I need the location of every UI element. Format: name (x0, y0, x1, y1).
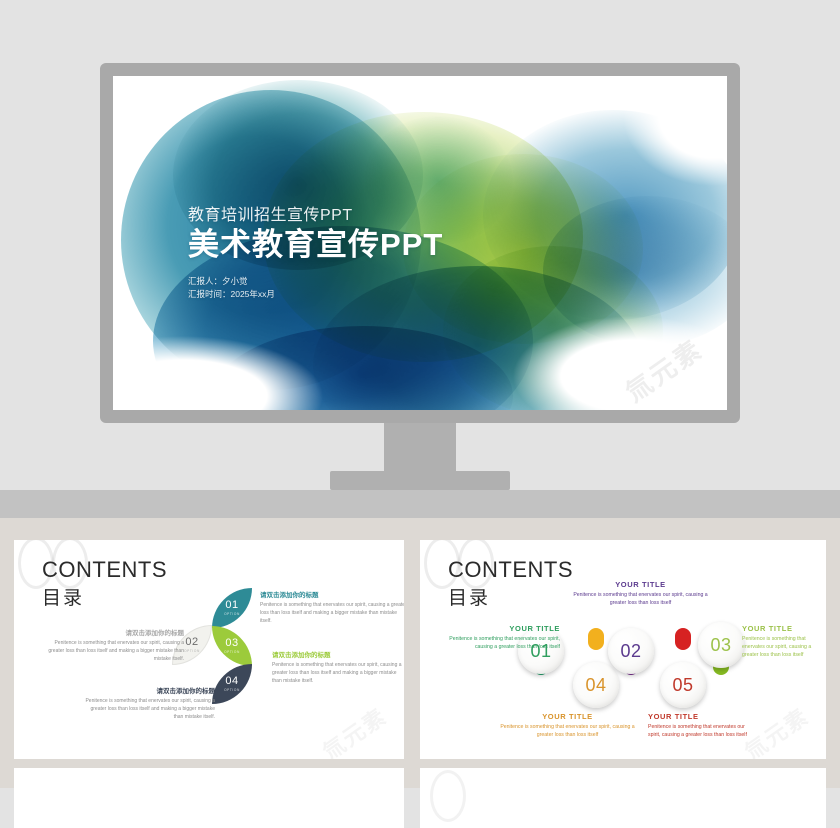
petal-02-title: 请双击添加你的标题 (44, 630, 184, 638)
hero-title: 美术教育宣传PPT (188, 227, 658, 263)
petal-04-option: OPTION (224, 688, 240, 692)
circle-01-title: YOUR TITLE (430, 624, 560, 633)
slide-thumbnail-contents-petal[interactable]: CONTENTS 目录 01 OPTION 02 OPTION 03 OPTIO… (14, 540, 404, 759)
petal-01-option: OPTION (224, 612, 240, 616)
petal-01-body: Penitence is something that enervates ou… (260, 602, 404, 625)
circle-04-text: YOUR TITLE Penitence is something that e… (500, 712, 635, 739)
desk-surface (0, 490, 840, 518)
bulb-04 (588, 628, 604, 650)
monitor-stand-base (330, 471, 510, 490)
circle-05-body: Penitence is something that enervates ou… (648, 723, 758, 739)
circle-03[interactable]: 03 (698, 622, 744, 668)
petal-03-body: Penitence is something that enervates ou… (272, 662, 404, 685)
petal-02-text: 请双击添加你的标题 Penitence is something that en… (44, 630, 184, 664)
petal-03-number: 03 (225, 638, 238, 649)
background-number (430, 770, 464, 828)
petal-01[interactable]: 01 OPTION (212, 588, 252, 628)
monitor-stand-neck (384, 423, 456, 471)
petal-02-option: OPTION (184, 649, 200, 653)
watermark-text: 氚元素 (315, 699, 392, 759)
bulb-05 (675, 628, 691, 650)
monitor-preview-area: 教育培训招生宣传PPT 美术教育宣传PPT 汇报人：夕小觉 汇报时间：2025年… (0, 0, 840, 518)
slide-thumbnail-contents-circles[interactable]: CONTENTS 目录 01 04 02 05 03 YOUR TITLE Pe… (420, 540, 826, 759)
slide-thumbnail-grid: CONTENTS 目录 01 OPTION 02 OPTION 03 OPTIO… (0, 518, 840, 788)
petal-03-title: 请双击添加你的标题 (272, 652, 404, 660)
hero-subtitle: 教育培训招生宣传PPT (188, 206, 658, 225)
slide-heading: CONTENTS 目录 (42, 558, 167, 610)
petal-04-body: Penitence is something that enervates ou… (80, 698, 215, 721)
petal-01-title: 请双击添加你的标题 (260, 592, 404, 600)
petal-diagram: 01 OPTION 02 OPTION 03 OPTION 04 OPTION (172, 588, 252, 748)
petal-04-number: 04 (225, 676, 238, 687)
circle-03-text: YOUR TITLE Penitence is something that e… (742, 624, 820, 659)
slide-preview-screen[interactable]: 教育培训招生宣传PPT 美术教育宣传PPT 汇报人：夕小觉 汇报时间：2025年… (113, 76, 727, 410)
circle-04-body: Penitence is something that enervates ou… (500, 723, 635, 739)
circle-03-body: Penitence is something that enervates ou… (742, 635, 820, 659)
petal-04-text: 请双击添加你的标题 Penitence is something that en… (80, 688, 215, 722)
circle-01-text: YOUR TITLE Penitence is something that e… (430, 624, 560, 651)
slide-heading-cn: 目录 (42, 583, 167, 610)
circle-05[interactable]: 05 (660, 662, 706, 708)
hero-text-block: 教育培训招生宣传PPT 美术教育宣传PPT 汇报人：夕小觉 汇报时间：2025年… (188, 206, 658, 301)
petal-02-body: Penitence is something that enervates ou… (44, 640, 184, 663)
slide-thumbnail-next-row-left[interactable] (14, 768, 404, 828)
petal-04-title: 请双击添加你的标题 (80, 688, 215, 696)
circle-02-body: Penitence is something that enervates ou… (573, 591, 708, 607)
circle-04-title: YOUR TITLE (500, 712, 635, 721)
petal-04[interactable]: 04 OPTION (212, 664, 252, 704)
circle-01-body: Penitence is something that enervates ou… (430, 635, 560, 651)
hero-date: 汇报时间：2025年xx月 (188, 288, 658, 301)
circle-04[interactable]: 04 (573, 662, 619, 708)
circle-05-title: YOUR TITLE (648, 712, 758, 721)
slide-thumbnail-next-row-right[interactable] (420, 768, 826, 828)
petal-02-number: 02 (185, 637, 198, 648)
petal-01-text: 请双击添加你的标题 Penitence is something that en… (260, 592, 404, 626)
circle-02[interactable]: 02 (608, 628, 654, 674)
hero-presenter: 汇报人：夕小觉 (188, 275, 658, 288)
petal-01-number: 01 (225, 600, 238, 611)
circle-03-title: YOUR TITLE (742, 624, 820, 633)
circle-02-title: YOUR TITLE (573, 580, 708, 589)
petal-03[interactable]: 03 OPTION (212, 626, 252, 666)
circle-05-text: YOUR TITLE Penitence is something that e… (648, 712, 758, 739)
petal-03-text: 请双击添加你的标题 Penitence is something that en… (272, 652, 404, 686)
slide-heading-en: CONTENTS (42, 558, 167, 581)
petal-03-option: OPTION (224, 650, 240, 654)
circle-02-text: YOUR TITLE Penitence is something that e… (573, 580, 708, 607)
circle-diagram: 01 04 02 05 03 YOUR TITLE Penitence is s… (420, 540, 826, 759)
